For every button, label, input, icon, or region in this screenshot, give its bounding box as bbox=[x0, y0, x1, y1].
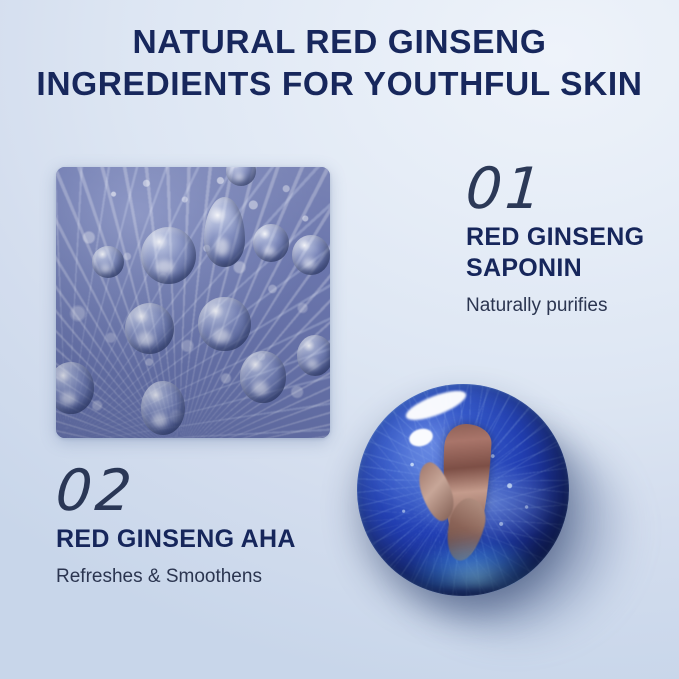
feature-title-line: RED GINSENG bbox=[466, 222, 644, 253]
title-line-1: NATURAL RED GINSENG bbox=[0, 22, 679, 64]
feature-item-01: 01 RED GINSENG SAPONIN Naturally purifie… bbox=[466, 160, 644, 319]
feature-number: 02 bbox=[54, 462, 298, 520]
ginseng-sphere bbox=[357, 384, 569, 596]
feature-title-line: RED GINSENG AHA bbox=[56, 524, 296, 555]
feature-title-line: SAPONIN bbox=[466, 253, 644, 284]
feature-number: 01 bbox=[464, 160, 646, 218]
feature-description: Refreshes & Smoothens bbox=[56, 564, 296, 590]
sphere-inner-shading bbox=[357, 384, 569, 596]
feature-title: RED GINSENG SAPONIN bbox=[466, 222, 644, 284]
water-droplet-photo bbox=[56, 167, 330, 438]
feature-title: RED GINSENG AHA bbox=[56, 524, 296, 555]
product-ingredient-poster: NATURAL RED GINSENG INGREDIENTS FOR YOUT… bbox=[0, 0, 679, 679]
title-line-2: INGREDIENTS FOR YOUTHFUL SKIN bbox=[0, 64, 679, 106]
feature-item-02: 02 RED GINSENG AHA Refreshes & Smoothens bbox=[56, 462, 296, 590]
feature-description: Naturally purifies bbox=[466, 293, 644, 319]
photo-vignette bbox=[56, 167, 330, 438]
page-title: NATURAL RED GINSENG INGREDIENTS FOR YOUT… bbox=[0, 22, 679, 106]
